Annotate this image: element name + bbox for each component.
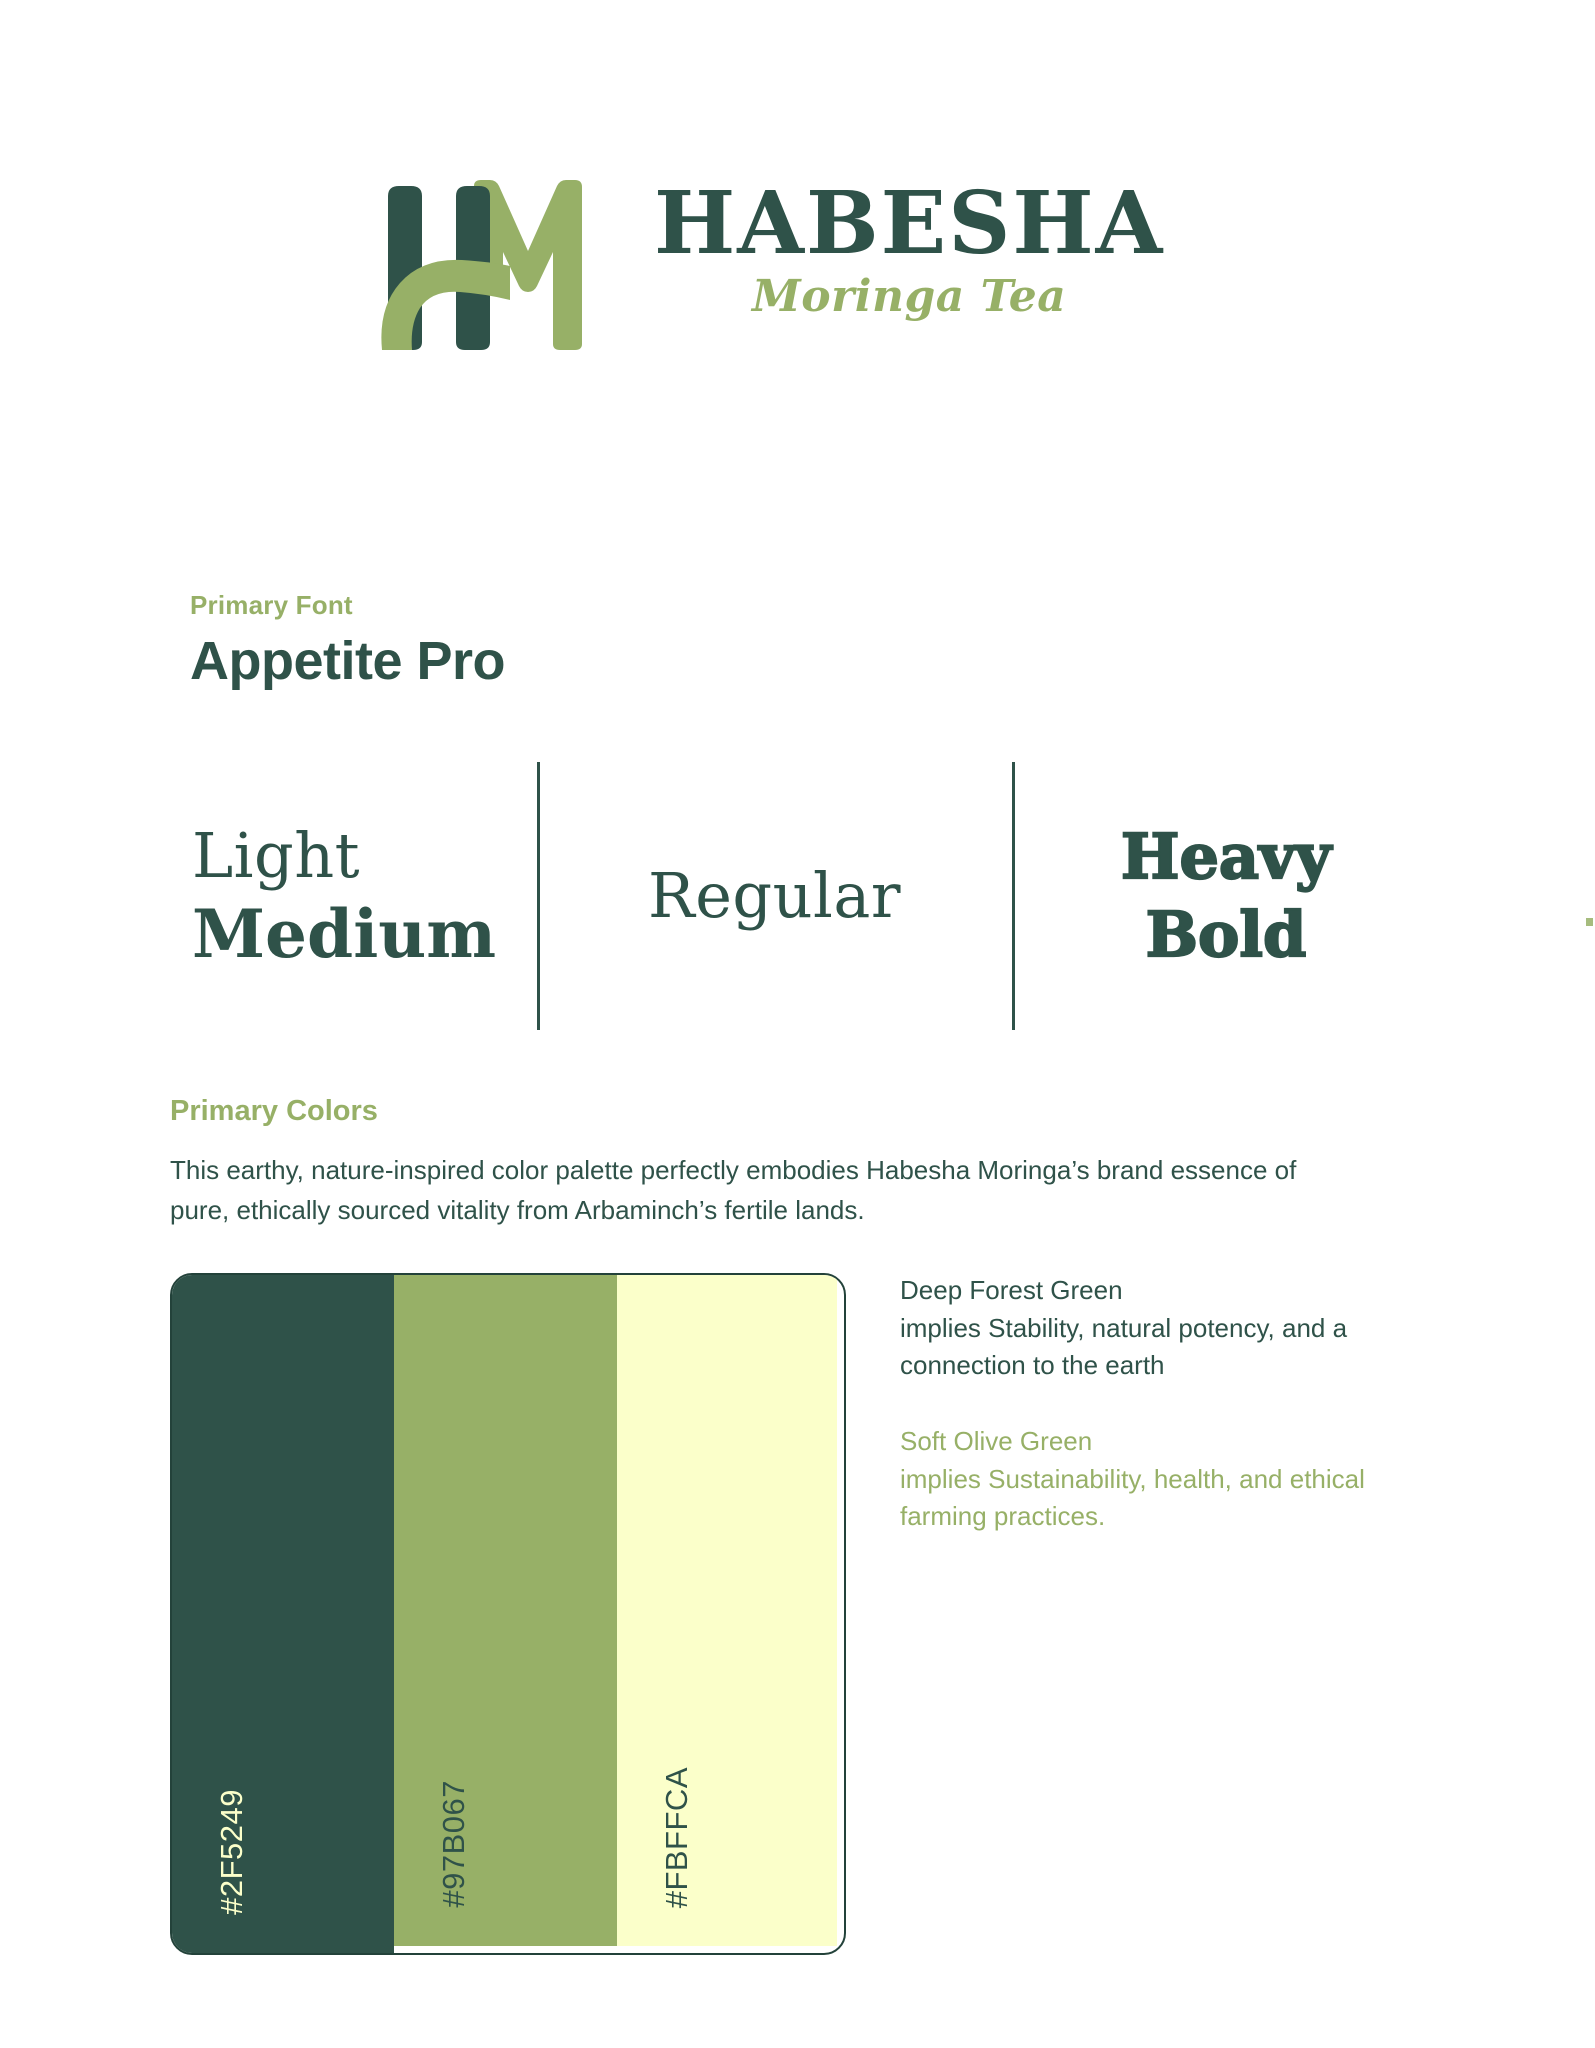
brand-tagline: Moringa Tea [752,274,1066,320]
brand-logo-lockup: HABESHA Moringa Tea [370,178,1164,353]
color-meaning-name: Deep Forest Green [900,1272,1440,1310]
primary-font-eyebrow: Primary Font [190,590,1440,621]
color-meaning-description: implies Sustainability, health, and ethi… [900,1461,1440,1536]
primary-colors-section: Primary Colors This earthy, nature-inspi… [170,1095,1430,1231]
color-swatch-deep-forest-green[interactable]: #2F5249 [172,1275,394,1953]
color-meanings-list: Deep Forest Green implies Stability, nat… [900,1272,1440,1536]
primary-colors-description: This earthy, nature-inspired color palet… [170,1150,1350,1231]
specimen-column-regular: Regular [537,762,1012,1030]
specimen-column-light-medium: Light Medium [170,762,530,1030]
color-swatch-soft-olive-green[interactable]: #97B067 [394,1275,618,1946]
color-swatch-pale-cream[interactable]: #FBFFCA [617,1275,837,1946]
font-weight-specimens: Light Medium Regular Heavy Bold [170,762,1440,1030]
swatch-hex-label: #2F5249 [214,1789,250,1915]
specimen-regular: Regular [648,862,901,930]
edge-artifact-dot [1586,918,1593,926]
primary-colors-heading: Primary Colors [170,1095,1430,1128]
color-meaning-name: Soft Olive Green [900,1423,1440,1461]
habesha-hm-monogram-icon [370,178,602,353]
brand-wordmark: HABESHA [654,182,1164,266]
specimen-bold: Bold [1146,901,1307,969]
color-palette-block: #2F5249 #97B067 #FBFFCA [170,1273,846,1955]
specimen-column-heavy-bold: Heavy Bold [1012,762,1440,1030]
brand-text-block: HABESHA Moringa Tea [654,182,1164,320]
primary-font-name: Appetite Pro [190,633,1440,690]
color-meaning-deep-forest-green: Deep Forest Green implies Stability, nat… [900,1272,1440,1385]
brand-style-guide-page: HABESHA Moringa Tea Primary Font Appetit… [0,0,1595,2048]
primary-font-section: Primary Font Appetite Pro [190,590,1440,690]
color-meaning-description: implies Stability, natural potency, and … [900,1310,1440,1385]
color-swatch-group: #2F5249 #97B067 #FBFFCA [170,1273,846,1955]
swatch-hex-label: #FBFFCA [659,1767,695,1908]
specimen-light: Light [192,822,360,890]
swatch-hex-label: #97B067 [436,1780,472,1908]
specimen-heavy: Heavy [1121,823,1331,891]
specimen-medium: Medium [192,898,496,971]
color-meaning-soft-olive-green: Soft Olive Green implies Sustainability,… [900,1423,1440,1536]
